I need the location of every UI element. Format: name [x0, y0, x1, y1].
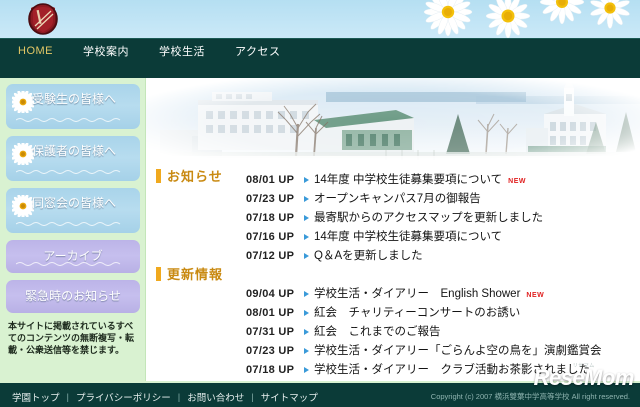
updates-heading-label: 更新情報: [167, 264, 223, 283]
footer-separator: |: [178, 392, 180, 403]
news-date: 07/12 UP: [246, 250, 302, 262]
wave-divider-icon: [16, 117, 126, 122]
nav-item-school-life[interactable]: 学校生活: [159, 43, 205, 59]
news-item[interactable]: 07/12 UP Q＆Aを更新しました: [246, 247, 640, 266]
sidebar-item-label: 保護者の皆様へ: [32, 142, 116, 159]
update-title[interactable]: 学校生活・ダイアリー「ごらんよ空の鳥を」演劇鑑賞会: [314, 342, 602, 358]
daisy-flowers-icon: [410, 0, 640, 38]
footer-separator: |: [67, 392, 69, 403]
news-section-heading: お知らせ: [156, 166, 223, 185]
heading-marker-icon: [156, 267, 161, 281]
news-item[interactable]: 07/16 UP 14年度 中学校生徒募集要項について: [246, 228, 640, 247]
campus-photo-banner: [146, 78, 640, 168]
bullet-triangle-icon: [304, 291, 309, 297]
sidebar-item-label: 緊急時のお知らせ: [6, 287, 140, 304]
bullet-triangle-icon: [304, 253, 309, 259]
bullet-triangle-icon: [304, 177, 309, 183]
site-header: [0, 0, 640, 38]
news-title[interactable]: Q＆Aを更新しました: [314, 247, 423, 263]
update-item[interactable]: 07/31 UP 紅会 これまでのご報告: [246, 323, 640, 342]
nav-item-home[interactable]: HOME: [18, 45, 53, 57]
update-title[interactable]: 紅会 チャリティーコンサートのお誘い: [314, 304, 520, 320]
wave-divider-icon: [16, 261, 126, 266]
bullet-triangle-icon: [304, 348, 309, 354]
footer-links: 学園トップ | プライバシーポリシー | お問い合わせ | サイトマップ: [12, 390, 318, 404]
main-navigation: HOME 学校案内 学校生活 アクセス: [0, 38, 640, 62]
news-item[interactable]: 07/18 UP 最寄駅からのアクセスマップを更新しました: [246, 209, 640, 228]
footer-link-gakuen-top[interactable]: 学園トップ: [12, 390, 60, 404]
school-crest-shield-icon: [26, 2, 60, 36]
page-root: HOME 学校案内 学校生活 アクセス ›Home: [0, 0, 640, 407]
news-title[interactable]: 最寄駅からのアクセスマップを更新しました: [314, 209, 543, 225]
footer-link-sitemap[interactable]: サイトマップ: [261, 390, 318, 404]
update-item[interactable]: 07/18 UP 学校生活・ダイアリー クラブ活動お茶影されました: [246, 361, 640, 380]
news-item[interactable]: 07/23 UP オープンキャンパス7月の御報告: [246, 190, 640, 209]
heading-marker-icon: [156, 169, 161, 183]
news-list: 08/01 UP 14年度 中学校生徒募集要項について NEW 07/23 UP…: [246, 171, 640, 266]
breadcrumb-bar: ›Home: [0, 62, 640, 78]
sidebar-item-label: 受験生の皆様へ: [32, 90, 116, 107]
bullet-triangle-icon: [304, 310, 309, 316]
update-date: 07/18 UP: [246, 364, 302, 376]
daisy-icon: [12, 143, 34, 165]
copyright-text: Copyright (c) 2007 横浜雙葉中学高等学校 All right …: [431, 391, 630, 402]
sidebar: 受験生の皆様へ: [0, 78, 146, 381]
sidebar-disclaimer: 本サイトに掲載されているすべてのコンテンツの無断複写・転載・公衆送信等を禁じます…: [6, 320, 139, 356]
site-footer: 学園トップ | プライバシーポリシー | お問い合わせ | サイトマップ Cop…: [0, 381, 640, 407]
update-item[interactable]: 09/04 UP 学校生活・ダイアリー English Shower NEW: [246, 285, 640, 304]
update-date: 07/23 UP: [246, 345, 302, 357]
main-content: お知らせ 08/01 UP 14年度 中学校生徒募集要項について NEW 07/…: [146, 78, 640, 381]
update-item[interactable]: 08/01 UP 紅会 チャリティーコンサートのお誘い: [246, 304, 640, 323]
news-date: 07/23 UP: [246, 193, 302, 205]
update-date: 07/31 UP: [246, 326, 302, 338]
bullet-triangle-icon: [304, 329, 309, 335]
news-date: 08/01 UP: [246, 174, 302, 186]
sidebar-item-archive[interactable]: アーカイブ: [6, 240, 140, 273]
bullet-triangle-icon: [304, 234, 309, 240]
daisy-icon: [12, 91, 34, 113]
news-item[interactable]: 08/01 UP 14年度 中学校生徒募集要項について NEW: [246, 171, 640, 190]
daisy-icon: [12, 195, 34, 217]
sidebar-item-emergency-notice[interactable]: 緊急時のお知らせ: [6, 280, 140, 313]
updates-list: 09/04 UP 学校生活・ダイアリー English Shower NEW 0…: [246, 285, 640, 380]
news-title[interactable]: 14年度 中学校生徒募集要項について: [314, 228, 502, 244]
update-title[interactable]: 紅会 これまでのご報告: [314, 323, 441, 339]
nav-item-school-guide[interactable]: 学校案内: [83, 43, 129, 59]
update-date: 08/01 UP: [246, 307, 302, 319]
update-title[interactable]: 学校生活・ダイアリー クラブ活動お茶影されました: [314, 361, 590, 377]
footer-link-privacy-policy[interactable]: プライバシーポリシー: [76, 390, 171, 404]
updates-section-heading: 更新情報: [156, 264, 223, 283]
new-badge: NEW: [526, 292, 544, 299]
bullet-triangle-icon: [304, 215, 309, 221]
sidebar-item-prospective-students[interactable]: 受験生の皆様へ: [6, 84, 140, 129]
new-badge: NEW: [508, 178, 526, 185]
update-date: 09/04 UP: [246, 288, 302, 300]
news-heading-label: お知らせ: [167, 166, 223, 185]
nav-item-access[interactable]: アクセス: [235, 43, 280, 59]
wave-divider-icon: [16, 169, 126, 174]
update-title[interactable]: 学校生活・ダイアリー English Shower: [314, 285, 520, 301]
bullet-triangle-icon: [304, 367, 309, 373]
footer-separator: |: [251, 392, 253, 403]
update-item[interactable]: 07/23 UP 学校生活・ダイアリー「ごらんよ空の鳥を」演劇鑑賞会: [246, 342, 640, 361]
sidebar-item-alumni[interactable]: 同窓会の皆様へ: [6, 188, 140, 233]
page-body: 受験生の皆様へ: [0, 78, 640, 381]
footer-link-contact[interactable]: お問い合わせ: [187, 390, 244, 404]
news-title[interactable]: オープンキャンパス7月の御報告: [314, 190, 481, 206]
news-title[interactable]: 14年度 中学校生徒募集要項について: [314, 171, 502, 187]
bullet-triangle-icon: [304, 196, 309, 202]
wave-divider-icon: [16, 221, 126, 226]
sidebar-item-guardians[interactable]: 保護者の皆様へ: [6, 136, 140, 181]
news-date: 07/16 UP: [246, 231, 302, 243]
sidebar-item-label: 同窓会の皆様へ: [32, 194, 116, 211]
news-date: 07/18 UP: [246, 212, 302, 224]
